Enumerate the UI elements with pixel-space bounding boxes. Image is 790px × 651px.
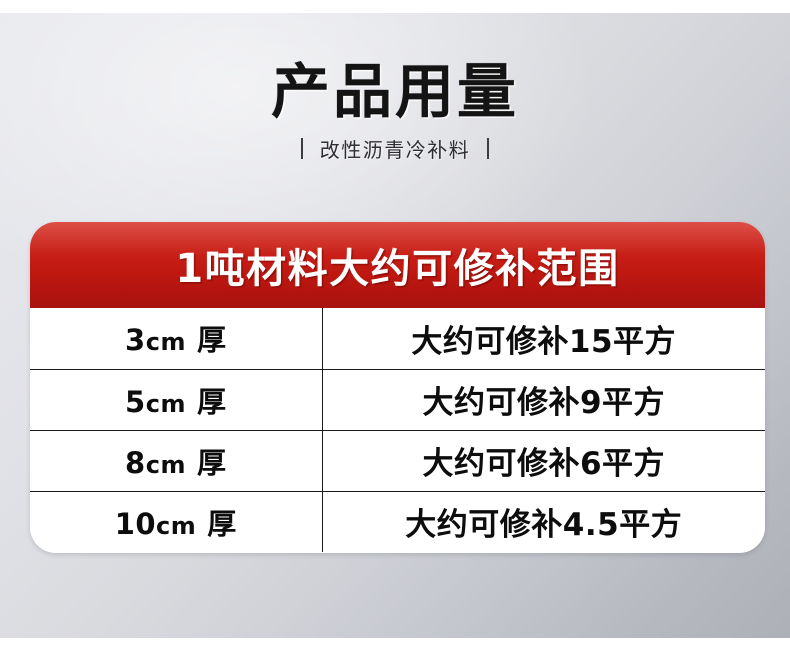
heading-block: 产品用量 改性沥青冷补料 [0, 62, 790, 163]
thickness-cell: 8cm厚 [30, 430, 322, 491]
thickness-cell: 10cm厚 [30, 491, 322, 552]
thickness-unit: cm [146, 451, 186, 479]
thickness-value: 10 [115, 507, 156, 541]
coverage-cell: 大约可修补9平方 [322, 369, 765, 430]
product-usage-infographic: 产品用量 改性沥青冷补料 1吨材料大约可修补范围 3cm厚 大约可修补15平方 … [0, 0, 790, 651]
thickness-word: 厚 [207, 507, 237, 541]
coverage-cell: 大约可修补15平方 [322, 308, 765, 369]
thickness-unit: cm [156, 512, 196, 540]
table-row: 5cm厚 大约可修补9平方 [30, 369, 765, 430]
thickness-value: 5 [125, 385, 146, 419]
thickness-word: 厚 [197, 446, 227, 480]
thickness-unit: cm [146, 390, 186, 418]
banner-header: 1吨材料大约可修补范围 [30, 222, 765, 308]
thickness-value: 8 [125, 446, 146, 480]
coverage-cell: 大约可修补6平方 [322, 430, 765, 491]
thickness-value: 3 [125, 323, 146, 357]
table-row: 3cm厚 大约可修补15平方 [30, 308, 765, 369]
page-subtitle: 改性沥青冷补料 [320, 134, 471, 163]
usage-table-body: 3cm厚 大约可修补15平方 5cm厚 大约可修补9平方 8cm厚 大约可修补6… [30, 308, 765, 552]
coverage-cell: 大约可修补4.5平方 [322, 491, 765, 552]
thickness-word: 厚 [197, 323, 227, 357]
usage-card: 1吨材料大约可修补范围 3cm厚 大约可修补15平方 5cm厚 大约可修补9平方… [30, 222, 765, 553]
usage-table: 3cm厚 大约可修补15平方 5cm厚 大约可修补9平方 8cm厚 大约可修补6… [30, 308, 765, 552]
thickness-cell: 5cm厚 [30, 369, 322, 430]
banner-title: 1吨材料大约可修补范围 [175, 236, 619, 294]
page-title: 产品用量 [0, 62, 790, 122]
table-row: 8cm厚 大约可修补6平方 [30, 430, 765, 491]
divider-bar-left-icon [301, 138, 303, 159]
table-row: 10cm厚 大约可修补4.5平方 [30, 491, 765, 552]
divider-bar-right-icon [487, 138, 489, 159]
subtitle-row: 改性沥青冷补料 [0, 134, 790, 163]
thickness-cell: 3cm厚 [30, 308, 322, 369]
thickness-word: 厚 [197, 385, 227, 419]
thickness-unit: cm [146, 328, 186, 356]
